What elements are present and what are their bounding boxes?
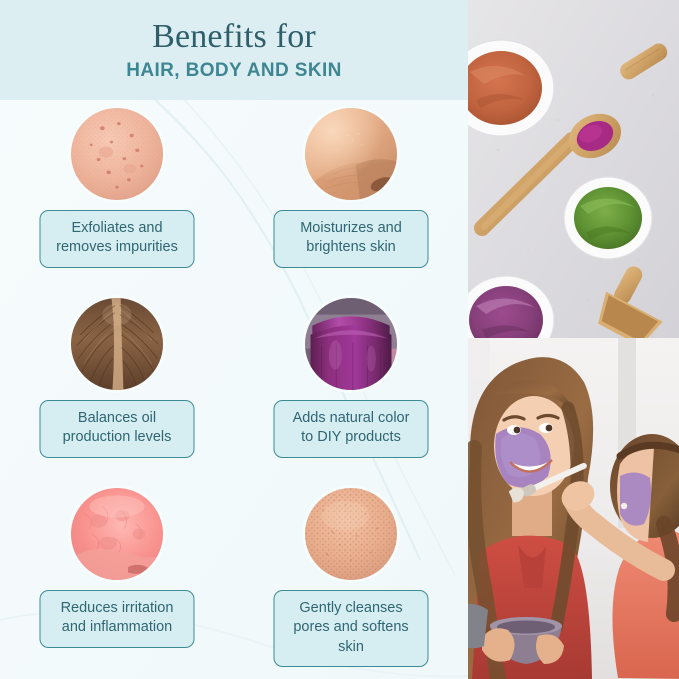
skin-pores-texture-photo (305, 488, 397, 580)
right-photo-panel: BARE ESSENTIALS LIVING BEAUTY SUPPLIES B… (468, 0, 679, 679)
clay-masks-flatlay-photo (468, 0, 679, 338)
benefits-grid: Exfoliates and removes impurities (0, 100, 468, 679)
header-band: Benefits for HAIR, BODY AND SKIN (0, 0, 468, 100)
benefit-item-1: Exfoliates and removes impurities (0, 100, 234, 293)
clay-masks-flatlay-illustration (468, 0, 679, 338)
irritated-skin-illustration (71, 488, 163, 580)
hair-scalp-illustration (71, 298, 163, 390)
purple-jar-illustration (305, 298, 397, 390)
page-title: Benefits for (152, 20, 316, 54)
moisturized-skin-illustration (305, 108, 397, 200)
irritated-red-skin-photo (71, 488, 163, 580)
face-mask-application-photo (468, 338, 679, 679)
blemished-skin-illustration (71, 108, 163, 200)
benefit-caption-1: Exfoliates and removes impurities (40, 210, 195, 268)
benefit-caption-2: Moisturizes and brightens skin (274, 210, 429, 268)
benefit-item-6: Gently cleanses pores and softens skin (234, 480, 468, 673)
benefit-caption-5: Reduces irritation and inflammation (40, 590, 195, 648)
benefit-item-5: Reduces irritation and inflammation (0, 480, 234, 673)
blemished-skin-closeup-photo (71, 108, 163, 200)
page-subtitle: HAIR, BODY AND SKIN (126, 61, 342, 80)
benefit-item-4: Adds natural color to DIY products (234, 290, 468, 483)
benefit-caption-4: Adds natural color to DIY products (274, 400, 429, 458)
infographic-page: Benefits for HAIR, BODY AND SKIN (0, 0, 679, 679)
hair-scalp-part-photo (71, 298, 163, 390)
purple-cosmetic-jar-photo (305, 298, 397, 390)
benefit-caption-6: Gently cleanses pores and softens skin (274, 590, 429, 667)
benefit-item-3: Balances oil production levels (0, 290, 234, 483)
left-benefits-panel: Benefits for HAIR, BODY AND SKIN (0, 0, 468, 679)
moisturized-skin-closeup-photo (305, 108, 397, 200)
skin-pores-illustration (305, 488, 397, 580)
benefit-caption-3: Balances oil production levels (40, 400, 195, 458)
green-clay-bowl (564, 177, 652, 259)
face-mask-application-illustration (468, 338, 679, 679)
benefit-item-2: Moisturizes and brightens skin (234, 100, 468, 293)
